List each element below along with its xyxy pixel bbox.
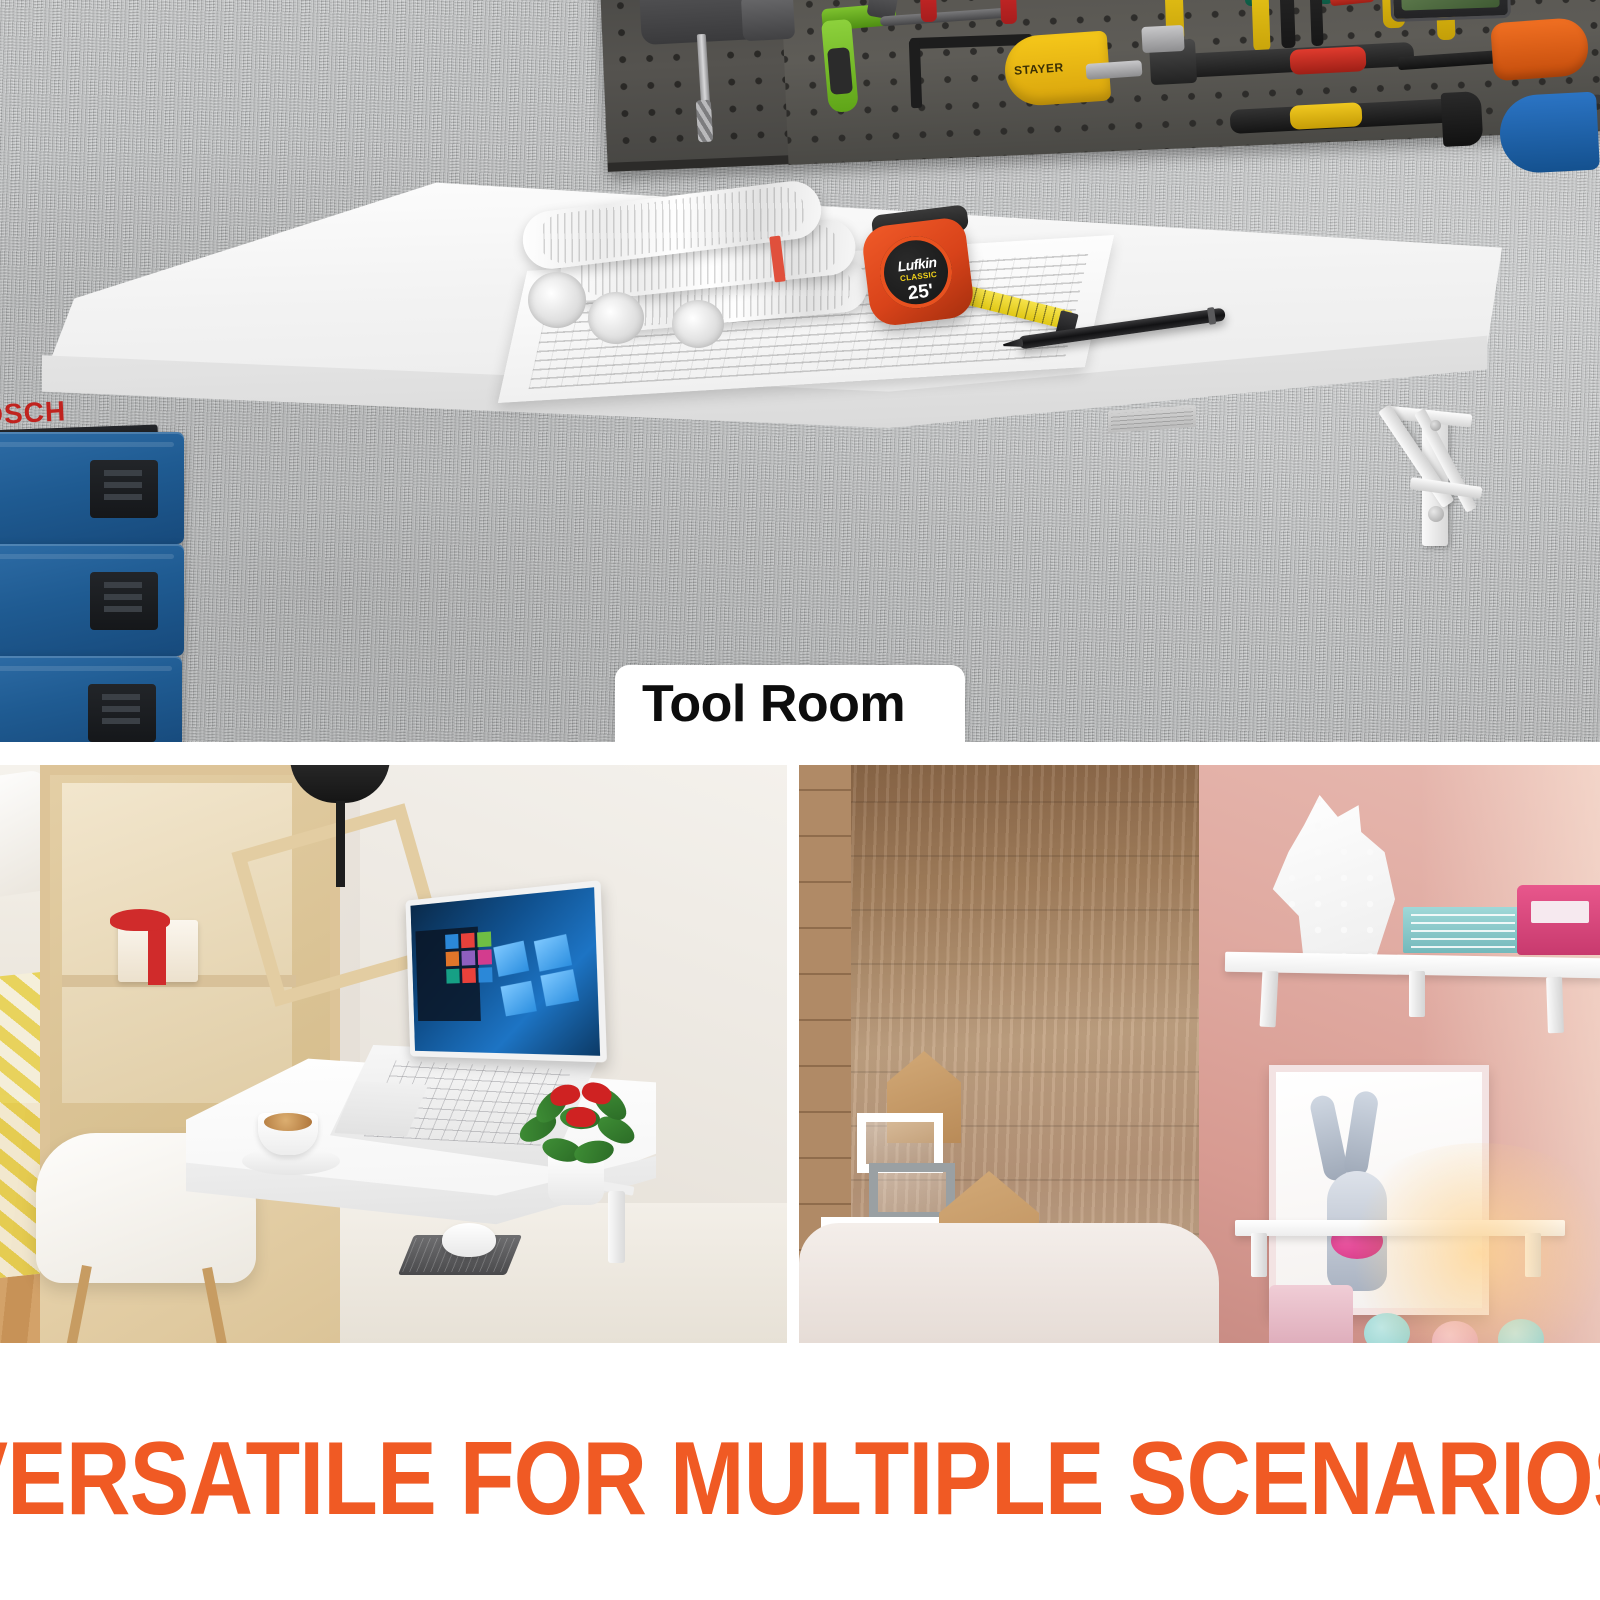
green-grip-inlay-icon <box>827 47 853 95</box>
bed-corner <box>799 1223 1219 1343</box>
windows-tiles <box>445 931 494 998</box>
hammer-face-icon <box>1141 25 1184 53</box>
laptop-screen <box>405 880 607 1062</box>
blueprint-roll-end <box>528 272 586 328</box>
tool-case-blue <box>0 544 184 656</box>
bracket-screw-icon <box>1428 506 1444 522</box>
screwdriver-yellow-icon <box>1250 0 1270 52</box>
panel-bedroom: Bedroom <box>0 765 787 1343</box>
desk-lamp-arm <box>336 801 345 887</box>
screwdriver-red-icon <box>999 0 1017 24</box>
chisel-black-icon <box>1308 0 1323 46</box>
label-tool-room: Tool Room <box>615 665 965 742</box>
book-stack <box>1403 907 1523 953</box>
drill-chuck-icon <box>741 0 795 41</box>
chisel-black-icon <box>1278 0 1295 48</box>
shelf-bracket <box>1251 1233 1267 1277</box>
hex-key-leg-icon <box>909 40 922 108</box>
screwdriver-red-icon <box>919 0 937 22</box>
clamp-blue-icon <box>1498 91 1600 174</box>
label-tool-room-text: Tool Room <box>642 674 905 734</box>
hammer-grip-red-icon <box>1289 46 1366 75</box>
shelf-bracket <box>1546 977 1564 1034</box>
hammer-claw-icon <box>1441 91 1484 147</box>
toy-radio <box>1517 885 1600 955</box>
product-marketing-image: STAYER BOSCH <box>0 0 1600 1600</box>
blueprint-roll-end <box>588 292 644 344</box>
tape-measure-labels: Lufkin CLASSIC 25' <box>881 252 956 308</box>
coffee-surface <box>264 1113 312 1131</box>
headline-text: VERSATILE FOR MULTIPLE SCENARIOS <box>0 1427 1600 1531</box>
windows-logo-icon <box>493 931 579 1016</box>
panel-children-room: Children's Room <box>799 765 1600 1343</box>
bracket-wall-plate <box>608 1191 625 1263</box>
gift-bow-icon <box>110 909 170 931</box>
saw-handle-orange-icon <box>1490 17 1590 82</box>
panel-tool-room: STAYER BOSCH <box>0 0 1600 742</box>
tool-case-blue <box>0 432 184 544</box>
plant-leaves <box>516 1083 640 1169</box>
computer-mouse <box>442 1223 496 1257</box>
drill-bit-flute-icon <box>696 100 714 143</box>
blueprint-roll-end <box>672 300 724 348</box>
hammer-grip-yellow-icon <box>1289 102 1362 130</box>
tool-case-blue <box>0 656 182 742</box>
bracket-screw-icon <box>1430 420 1441 431</box>
headline-banner: VERSATILE FOR MULTIPLE SCENARIOS <box>112 1404 1488 1554</box>
shelf-bracket <box>1409 971 1425 1017</box>
shelf-bracket <box>1260 971 1279 1028</box>
